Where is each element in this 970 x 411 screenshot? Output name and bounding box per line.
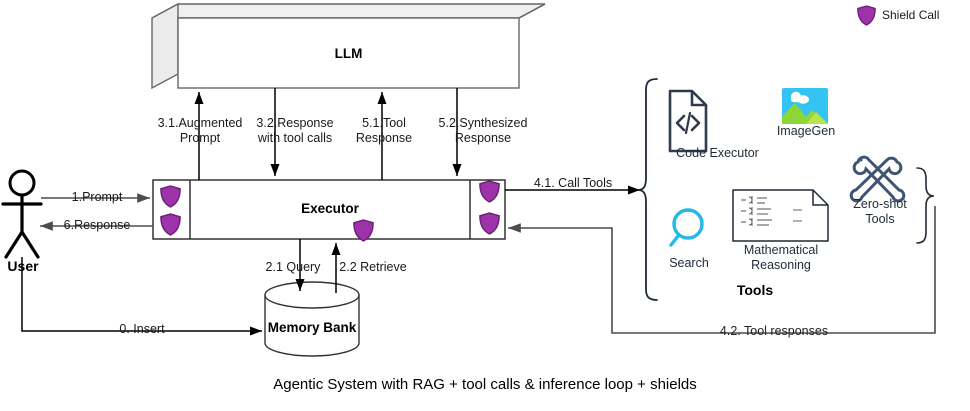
edge-insert bbox=[22, 257, 262, 331]
tool-label-code-executor: Code Executor bbox=[640, 146, 795, 161]
legend-shield-label: Shield Call bbox=[882, 8, 939, 22]
tool-label-zero-shot-tools: Zero-shot Tools bbox=[838, 197, 922, 227]
edge-label-tool-responses: 4.2. Tool responses bbox=[700, 324, 848, 339]
memory-bank-node[interactable] bbox=[265, 282, 359, 356]
edge-label-query: 2.1 Query bbox=[253, 260, 333, 275]
edge-label-response: 6.Response bbox=[44, 218, 150, 233]
edge-label-response-with-tool-calls: 3.2.Response with tool calls bbox=[233, 116, 357, 146]
edge-label-insert: 0. Insert bbox=[62, 322, 222, 337]
shield-icon-legend bbox=[858, 6, 875, 25]
magnifier-icon[interactable] bbox=[671, 210, 702, 245]
diagram-canvas: LLM Executor Memory Bank User Tools 1.Pr… bbox=[0, 0, 970, 411]
diagram-geometry bbox=[0, 0, 970, 411]
edge-label-call-tools: 4.1. Call Tools bbox=[525, 176, 621, 191]
formula-document-icon[interactable] bbox=[733, 190, 828, 241]
edge-label-tool-response: 5.1.Tool Response bbox=[340, 116, 428, 146]
executor-label: Executor bbox=[190, 201, 470, 216]
diagram-caption: Agentic System with RAG + tool calls & i… bbox=[0, 376, 970, 393]
tools-group-label: Tools bbox=[710, 282, 800, 298]
user-figure[interactable] bbox=[3, 171, 41, 257]
edge-label-synthesized-response: 5.2.Synthesized Response bbox=[421, 116, 545, 146]
code-file-icon[interactable] bbox=[670, 91, 706, 151]
llm-label: LLM bbox=[0, 46, 697, 61]
tool-label-search: Search bbox=[650, 256, 728, 271]
image-picture-icon[interactable] bbox=[782, 88, 828, 124]
crossed-wrenches-icon[interactable] bbox=[851, 157, 904, 201]
tool-label-math-reasoning: Mathematical Reasoning bbox=[724, 243, 838, 273]
tool-label-imagegen: ImageGen bbox=[760, 124, 852, 139]
user-label: User bbox=[0, 258, 46, 274]
edge-label-prompt: 1.Prompt bbox=[47, 190, 147, 205]
edge-label-retrieve: 2.2 Retrieve bbox=[325, 260, 421, 275]
memory-bank-label: Memory Bank bbox=[262, 320, 362, 335]
